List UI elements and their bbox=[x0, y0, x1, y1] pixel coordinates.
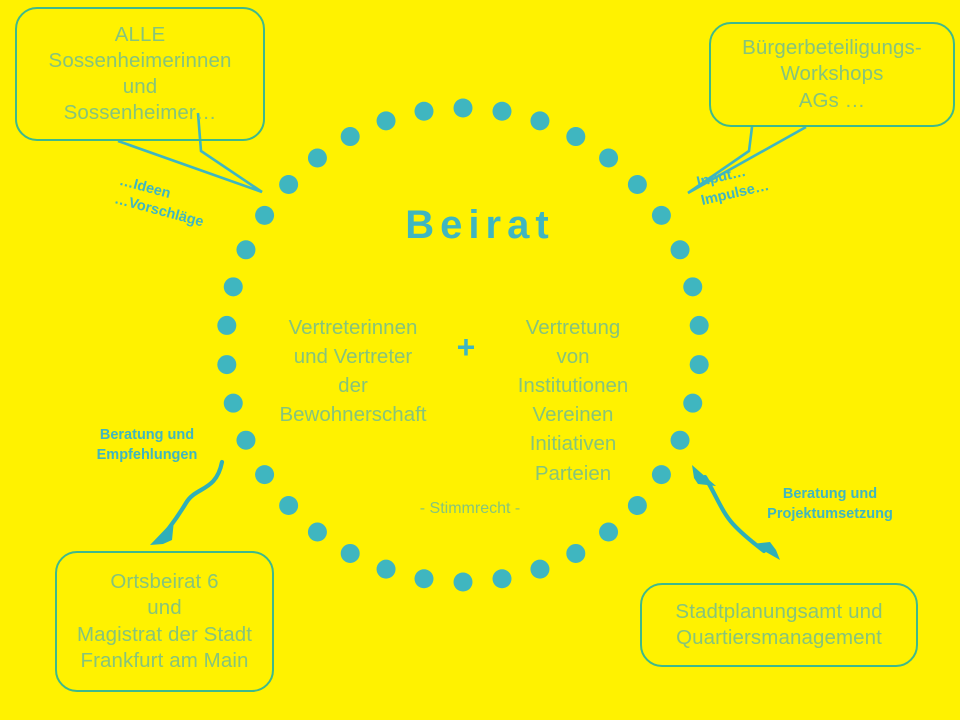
flow-label-beratung-empfehlungen: Beratung und Empfehlungen bbox=[72, 426, 222, 465]
column-line: der bbox=[268, 371, 438, 400]
column-line: Vereinen bbox=[492, 400, 654, 429]
circle-dot bbox=[530, 560, 549, 579]
box-line: Stadtplanungsamt und bbox=[650, 599, 908, 625]
circle-dot bbox=[341, 127, 360, 146]
column-line: und Vertreter bbox=[268, 342, 438, 371]
callout-line: Bürgerbeteiligungs- bbox=[719, 35, 945, 61]
circle-dot bbox=[683, 277, 702, 296]
callout-line: Sossenheimerinnen bbox=[25, 48, 255, 74]
arrowhead-down-right bbox=[752, 542, 780, 560]
column-line: Parteien bbox=[492, 459, 654, 488]
arrow-beratung-empfehlungen bbox=[166, 462, 222, 532]
circle-dot bbox=[690, 355, 709, 374]
voting-rights-note: - Stimmrecht - bbox=[340, 500, 600, 518]
callout-line: ALLE bbox=[25, 22, 255, 48]
circle-dot bbox=[414, 102, 433, 121]
callout-line: Sossenheimer… bbox=[25, 100, 255, 126]
box-line: Frankfurt am Main bbox=[65, 648, 264, 674]
circle-dot bbox=[671, 431, 690, 450]
circle-dot bbox=[279, 496, 298, 515]
circle-dot bbox=[255, 465, 274, 484]
box-ortsbeirat-magistrat[interactable]: Ortsbeirat 6 und Magistrat der Stadt Fra… bbox=[55, 551, 274, 692]
circle-dot bbox=[454, 99, 473, 118]
box-line: Ortsbeirat 6 bbox=[65, 569, 264, 595]
flow-label-line: Beratung und bbox=[740, 485, 920, 505]
box-bottom-right-lines: Stadtplanungsamt und Quartiersmanagement bbox=[642, 599, 916, 651]
circle-dot bbox=[566, 127, 585, 146]
flow-label-line: Beratung und bbox=[72, 426, 222, 446]
arrowhead-up-left bbox=[692, 465, 716, 486]
box-line: Magistrat der Stadt bbox=[65, 622, 264, 648]
circle-dot bbox=[628, 496, 647, 515]
members-column-residents: Vertreterinnen und Vertreter der Bewohne… bbox=[268, 313, 438, 429]
circle-dot bbox=[224, 394, 243, 413]
box-line: und bbox=[65, 595, 264, 621]
flow-label-line: Projektumsetzung bbox=[740, 505, 920, 525]
arrowhead-down-left bbox=[150, 520, 174, 545]
circle-dot bbox=[690, 316, 709, 335]
circle-dot bbox=[652, 465, 671, 484]
circle-dot bbox=[566, 544, 585, 563]
column-line: von bbox=[492, 342, 654, 371]
column-line: Initiativen bbox=[492, 429, 654, 458]
box-stadtplanungsamt-quartiersmanagement[interactable]: Stadtplanungsamt und Quartiersmanagement bbox=[640, 583, 918, 667]
column-line: Vertretung bbox=[492, 313, 654, 342]
callout-top-right-lines: Bürgerbeteiligungs- Workshops AGs … bbox=[711, 35, 953, 114]
callout-top-left[interactable]: ALLE Sossenheimerinnen und Sossenheimer… bbox=[15, 7, 265, 141]
members-column-institutions: Vertretung von Institutionen Vereinen In… bbox=[492, 313, 654, 488]
circle-dot bbox=[236, 431, 255, 450]
column-line: Vertreterinnen bbox=[268, 313, 438, 342]
circle-dot bbox=[530, 111, 549, 130]
circle-dot bbox=[414, 569, 433, 588]
box-line: Quartiersmanagement bbox=[650, 625, 908, 651]
circle-dot bbox=[628, 175, 647, 194]
circle-dot bbox=[599, 523, 618, 542]
circle-dot bbox=[308, 523, 327, 542]
diagram-canvas: ALLE Sossenheimerinnen und Sossenheimer…… bbox=[0, 0, 960, 720]
circle-dot bbox=[377, 560, 396, 579]
circle-dot bbox=[493, 102, 512, 121]
column-line: Bewohnerschaft bbox=[268, 400, 438, 429]
circle-dot bbox=[493, 569, 512, 588]
circle-dot bbox=[599, 148, 618, 167]
circle-dot bbox=[217, 316, 236, 335]
flow-label-beratung-projektumsetzung: Beratung und Projektumsetzung bbox=[740, 485, 920, 524]
circle-dot bbox=[217, 355, 236, 374]
callout-line: AGs … bbox=[719, 88, 945, 114]
circle-dot bbox=[224, 277, 243, 296]
circle-dot bbox=[377, 111, 396, 130]
callout-top-right[interactable]: Bürgerbeteiligungs- Workshops AGs … bbox=[709, 22, 955, 127]
box-bottom-left-lines: Ortsbeirat 6 und Magistrat der Stadt Fra… bbox=[57, 569, 272, 674]
callout-top-left-lines: ALLE Sossenheimerinnen und Sossenheimer… bbox=[17, 22, 263, 127]
flow-label-line: Empfehlungen bbox=[72, 446, 222, 466]
circle-dot bbox=[454, 573, 473, 592]
circle-dot bbox=[341, 544, 360, 563]
callout-line: und bbox=[25, 74, 255, 100]
circle-dot bbox=[683, 394, 702, 413]
circle-dot bbox=[308, 148, 327, 167]
column-line: Institutionen bbox=[492, 371, 654, 400]
plus-icon: + bbox=[449, 330, 483, 364]
callout-line: Workshops bbox=[719, 61, 945, 87]
circle-dot bbox=[279, 175, 298, 194]
